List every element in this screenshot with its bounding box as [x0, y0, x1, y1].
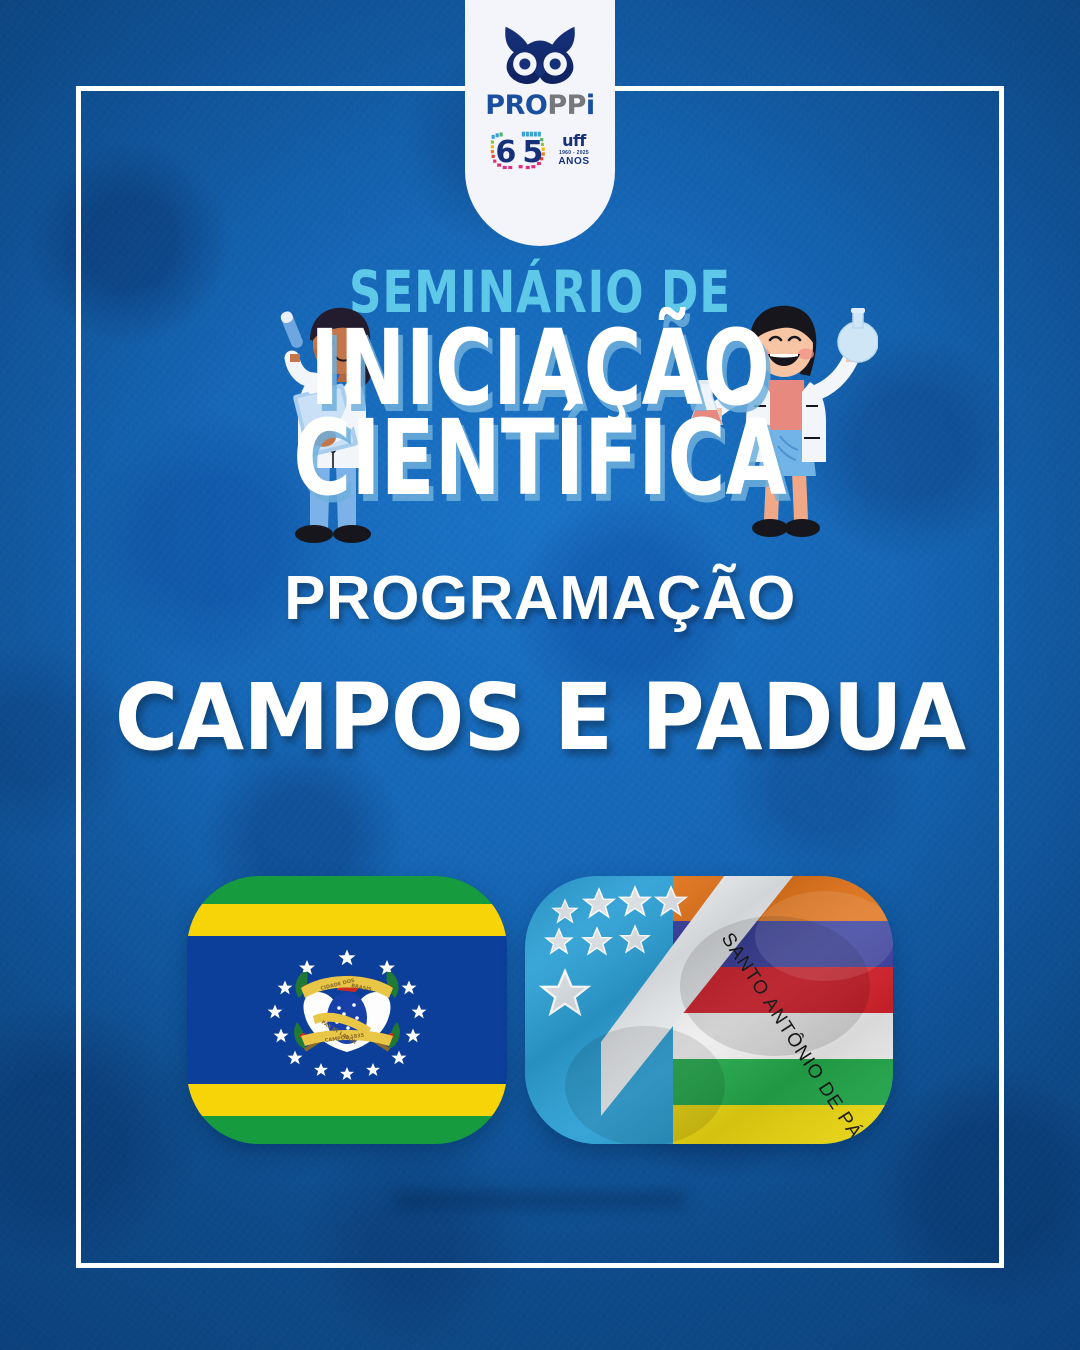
flag-campos-dos-goytacazes: CIDADE DOS BRASIS PAX ET LABOR CAMPOS 18… — [187, 876, 507, 1144]
flag-santo-antonio-de-padua: SANTO ANTÔNIO DE PÁDUA — [525, 876, 893, 1144]
flags-drop-shadow — [395, 1192, 685, 1208]
flags-row: CIDADE DOS BRASIS PAX ET LABOR CAMPOS 18… — [0, 876, 1080, 1144]
svg-text:6: 6 — [496, 135, 517, 170]
proppi-badge: PROPPi — [465, 0, 615, 246]
owl-icon — [498, 24, 582, 86]
svg-text:5: 5 — [523, 135, 544, 170]
anniversary-65-icon: 6 5 — [490, 130, 552, 170]
proppi-wordmark: PROPPi — [485, 92, 594, 119]
proppi-pro: PRO — [485, 90, 547, 121]
uff-wordmark: uff — [558, 133, 589, 149]
anniversary-lockup: 6 5 uff 1960 - 2025 ANOS — [490, 130, 589, 170]
coat-of-arms: CIDADE DOS BRASIS PAX ET LABOR CAMPOS 18… — [294, 972, 400, 1052]
uff-lockup: uff 1960 - 2025 ANOS — [558, 133, 589, 167]
headline-block: SEMINÁRIO DE INICIAÇÃO CIENTÍFICA PROGRA… — [0, 266, 1080, 771]
cities-heading: CAMPOS E PADUA — [32, 664, 1047, 771]
proppi-pp: PP — [547, 90, 586, 121]
uff-anos: ANOS — [558, 157, 589, 167]
subtitle-programacao: PROGRAMAÇÃO — [0, 563, 1080, 634]
poster-canvas: PROPPi — [0, 0, 1080, 1350]
proppi-i: i — [586, 90, 595, 121]
title-line-cientifica: CIENTÍFICA — [130, 411, 951, 507]
